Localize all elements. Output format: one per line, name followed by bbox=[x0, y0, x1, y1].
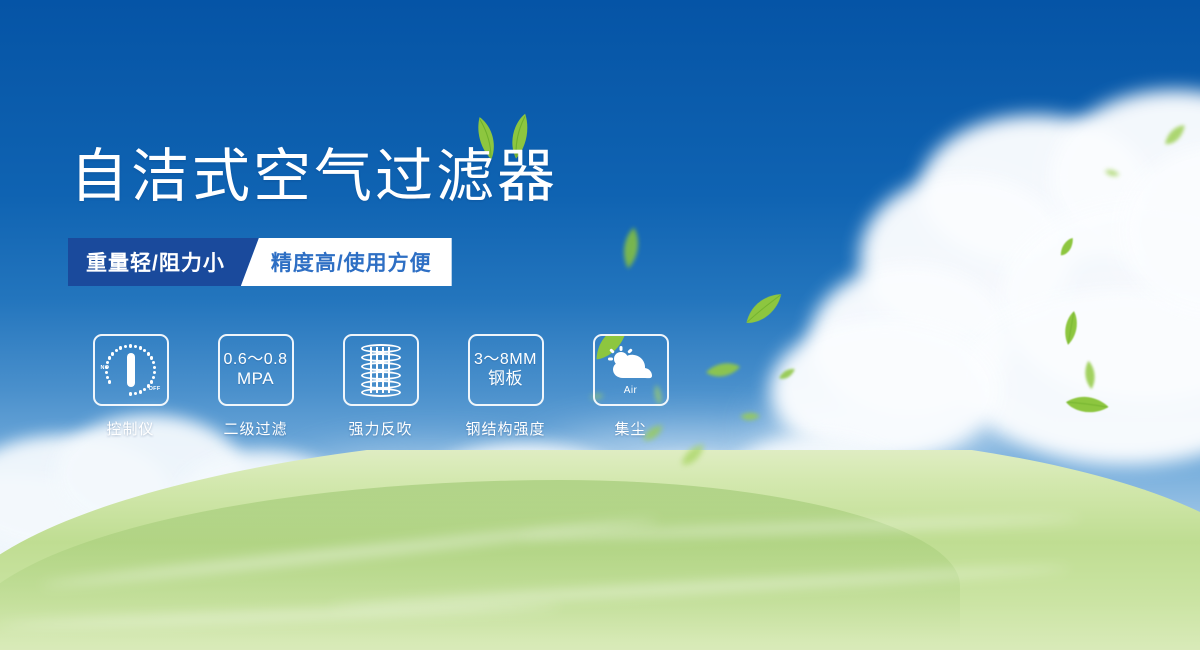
feature-item-reverse-blow[interactable]: 强力反吹 bbox=[318, 334, 443, 439]
feature-item-dust-collection[interactable]: Air 集尘 bbox=[568, 334, 693, 439]
gauge-tick-dot bbox=[111, 352, 114, 355]
banner-content: 自洁式空气过滤器 重量轻/阻力小 精度高/使用方便 NO OFF 控制仪 bbox=[0, 0, 1200, 650]
feature-icon-box: NO OFF bbox=[93, 334, 169, 406]
feature-item-controller[interactable]: NO OFF 控制仪 bbox=[68, 334, 193, 439]
gauge-tick-dot bbox=[147, 352, 150, 355]
page-title: 自洁式空气过滤器 bbox=[70, 148, 558, 206]
tagline-right: 精度高/使用方便 bbox=[241, 238, 452, 286]
feature-item-two-stage-filter[interactable]: 0.6〜0.8 MPA 二级过滤 bbox=[193, 334, 318, 439]
air-caption: Air bbox=[624, 385, 637, 396]
gauge-tick-dot bbox=[139, 390, 142, 393]
feature-label: 钢结构强度 bbox=[465, 418, 545, 439]
gauge-off-label: OFF bbox=[149, 386, 161, 392]
gauge-tick-dot bbox=[115, 349, 118, 352]
gauge-dial-icon: NO OFF bbox=[102, 342, 160, 398]
gauge-tick-dot bbox=[119, 346, 122, 349]
gauge-tick-dot bbox=[129, 344, 132, 347]
feature-list: NO OFF 控制仪 0.6〜0.8 MPA 二级过滤 bbox=[68, 334, 693, 439]
pressure-text-icon: 0.6〜0.8 MPA bbox=[224, 351, 288, 389]
gauge-tick-dot bbox=[106, 361, 109, 364]
gauge-tick-dot bbox=[108, 356, 111, 359]
tagline-left: 重量轻/阻力小 bbox=[68, 238, 259, 286]
thickness-value: 3〜8MM bbox=[474, 351, 537, 369]
gauge-tick-dot bbox=[153, 371, 156, 374]
feature-label: 二级过滤 bbox=[223, 418, 287, 439]
feature-icon-box bbox=[343, 334, 419, 406]
feature-label: 控制仪 bbox=[106, 418, 154, 439]
sun-cloud-icon bbox=[606, 344, 656, 384]
gauge-tick-dot bbox=[150, 356, 153, 359]
gauge-tick-dot bbox=[147, 384, 150, 387]
pressure-unit: MPA bbox=[224, 369, 288, 389]
thickness-text-icon: 3〜8MM 钢板 bbox=[474, 351, 537, 389]
feature-label: 集尘 bbox=[614, 418, 646, 439]
gauge-tick-dot bbox=[152, 361, 155, 364]
filter-coil-icon bbox=[358, 343, 404, 397]
gauge-tick-dot bbox=[152, 376, 155, 379]
gauge-tick-dot bbox=[143, 349, 146, 352]
gauge-tick-dot bbox=[143, 388, 146, 391]
gauge-tick-dot bbox=[108, 380, 111, 383]
tagline-bar: 重量轻/阻力小 精度高/使用方便 bbox=[68, 238, 452, 286]
feature-item-steel-strength[interactable]: 3〜8MM 钢板 钢结构强度 bbox=[443, 334, 568, 439]
pressure-value: 0.6〜0.8 bbox=[224, 351, 288, 369]
thickness-material: 钢板 bbox=[474, 369, 537, 389]
feature-icon-box: Air bbox=[593, 334, 669, 406]
feature-label: 强力反吹 bbox=[348, 418, 412, 439]
gauge-tick-dot bbox=[124, 345, 127, 348]
gauge-tick-dot bbox=[150, 380, 153, 383]
promo-banner: 自洁式空气过滤器 重量轻/阻力小 精度高/使用方便 NO OFF 控制仪 bbox=[0, 0, 1200, 650]
gauge-tick-dot bbox=[105, 371, 108, 374]
feature-icon-box: 0.6〜0.8 MPA bbox=[218, 334, 294, 406]
gauge-tick-dot bbox=[134, 345, 137, 348]
gauge-tick-dot bbox=[134, 392, 137, 395]
feature-icon-box: 3〜8MM 钢板 bbox=[468, 334, 544, 406]
gauge-tick-dot bbox=[106, 376, 109, 379]
gauge-tick-dot bbox=[139, 346, 142, 349]
gauge-tick-dot bbox=[153, 366, 156, 369]
gauge-tick-dot bbox=[129, 392, 132, 395]
